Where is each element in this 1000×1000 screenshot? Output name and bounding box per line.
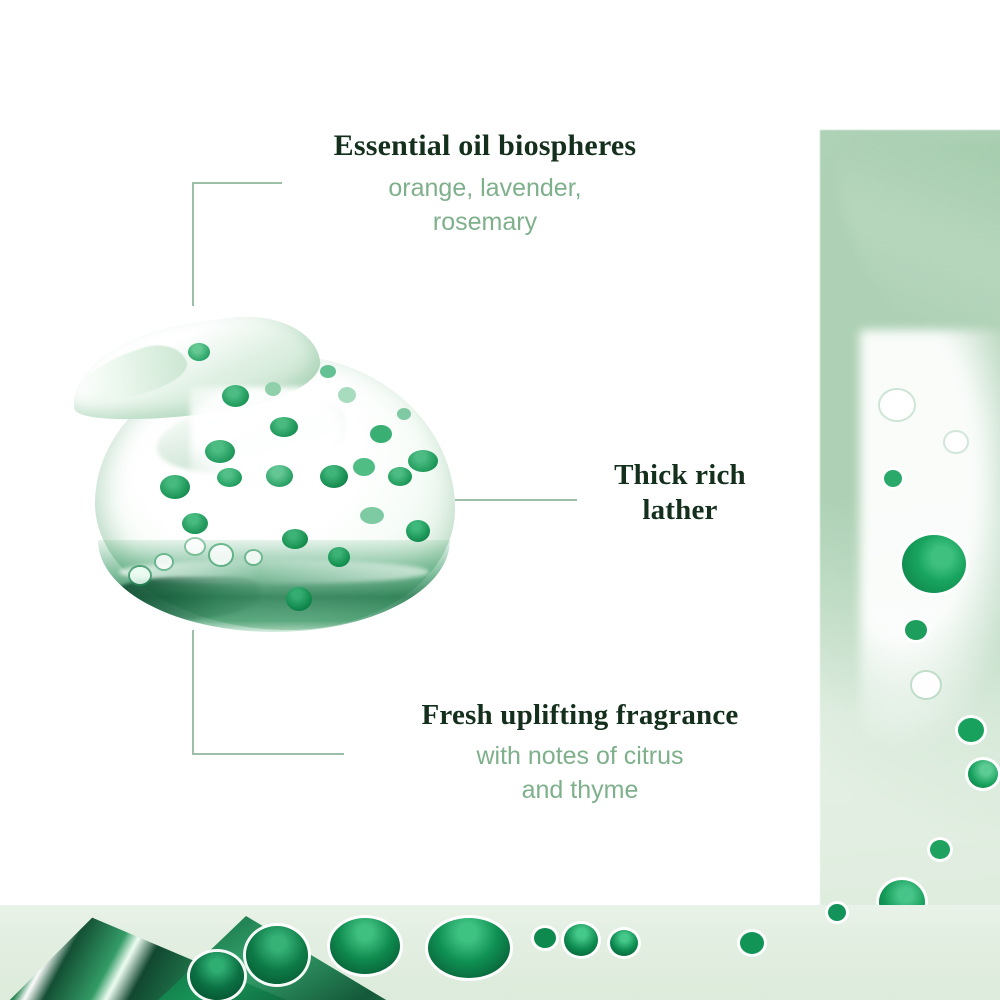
callout-heading: Fresh uplifting fragrance (265, 698, 895, 733)
gel-drop-base (98, 540, 450, 632)
oil-bead (408, 450, 438, 472)
callout-fresh-uplifting-fragrance: Fresh uplifting fragrance with notes of … (265, 698, 895, 807)
gel-bubble (884, 470, 902, 487)
callout-subtext: with notes of citrus and thyme (265, 740, 895, 808)
oil-bead (246, 551, 261, 564)
oil-bead (397, 408, 411, 420)
callout-subtext-line-2: and thyme (265, 774, 895, 808)
oil-bead (286, 587, 312, 611)
infographic-canvas: Essential oil biospheres orange, lavende… (0, 0, 1000, 1000)
callout-subtext-line-1: with notes of citrus (265, 740, 895, 774)
gel-bubble (610, 930, 638, 956)
oil-bead (188, 343, 210, 361)
callout-thick-rich-lather: Thick rich lather (545, 458, 815, 528)
oil-bead (222, 385, 249, 407)
oil-bead (353, 458, 375, 476)
gel-bubble-faint (912, 672, 940, 698)
oil-bead (210, 545, 232, 565)
gel-bubble (330, 918, 400, 974)
gel-bubble (930, 840, 950, 859)
oil-bead (160, 475, 190, 499)
gel-bubble (958, 718, 984, 742)
gel-bubble (905, 620, 927, 640)
oil-bead (328, 547, 350, 567)
callout-subtext-line-2: rosemary (180, 206, 790, 240)
oil-bead (182, 513, 208, 534)
callout-subtext: orange, lavender, rosemary (180, 172, 790, 240)
oil-bead (360, 507, 384, 524)
oil-bead (338, 387, 356, 403)
gel-bubble-faint (880, 390, 914, 420)
gel-bubble (902, 535, 966, 593)
oil-bead (186, 539, 204, 554)
gel-bubble (246, 926, 308, 984)
connector-line-bottom-vertical (192, 630, 194, 754)
callout-essential-oil-biospheres: Essential oil biospheres orange, lavende… (180, 128, 790, 240)
gel-bubble (190, 952, 244, 1000)
gel-bubble (740, 932, 764, 954)
oil-bead (320, 465, 348, 488)
gel-bubble (968, 760, 998, 788)
callout-heading: Thick rich lather (545, 458, 815, 528)
gel-bubble (534, 928, 556, 948)
gel-drop-subject (70, 315, 480, 635)
oil-bead (320, 365, 336, 378)
callout-heading-line-2: lather (545, 493, 815, 528)
oil-bead (370, 425, 392, 443)
callout-subtext-line-1: orange, lavender, (180, 172, 790, 206)
oil-bead (270, 417, 298, 437)
callout-heading-line-1: Thick rich (545, 458, 815, 493)
gel-bubble (428, 918, 510, 978)
oil-bead (130, 567, 150, 584)
oil-bead (388, 467, 412, 486)
oil-bead (205, 440, 235, 463)
oil-bead (266, 465, 293, 487)
oil-bead (217, 468, 242, 487)
gel-drop-base-shadow (105, 577, 260, 621)
oil-bead (156, 555, 172, 569)
oil-bead (282, 529, 308, 549)
gel-bubble (564, 924, 598, 956)
oil-bead (406, 520, 430, 542)
gel-bubble (828, 904, 846, 921)
gel-bubble-faint (945, 432, 967, 452)
callout-heading: Essential oil biospheres (180, 128, 790, 164)
oil-bead (265, 382, 281, 396)
